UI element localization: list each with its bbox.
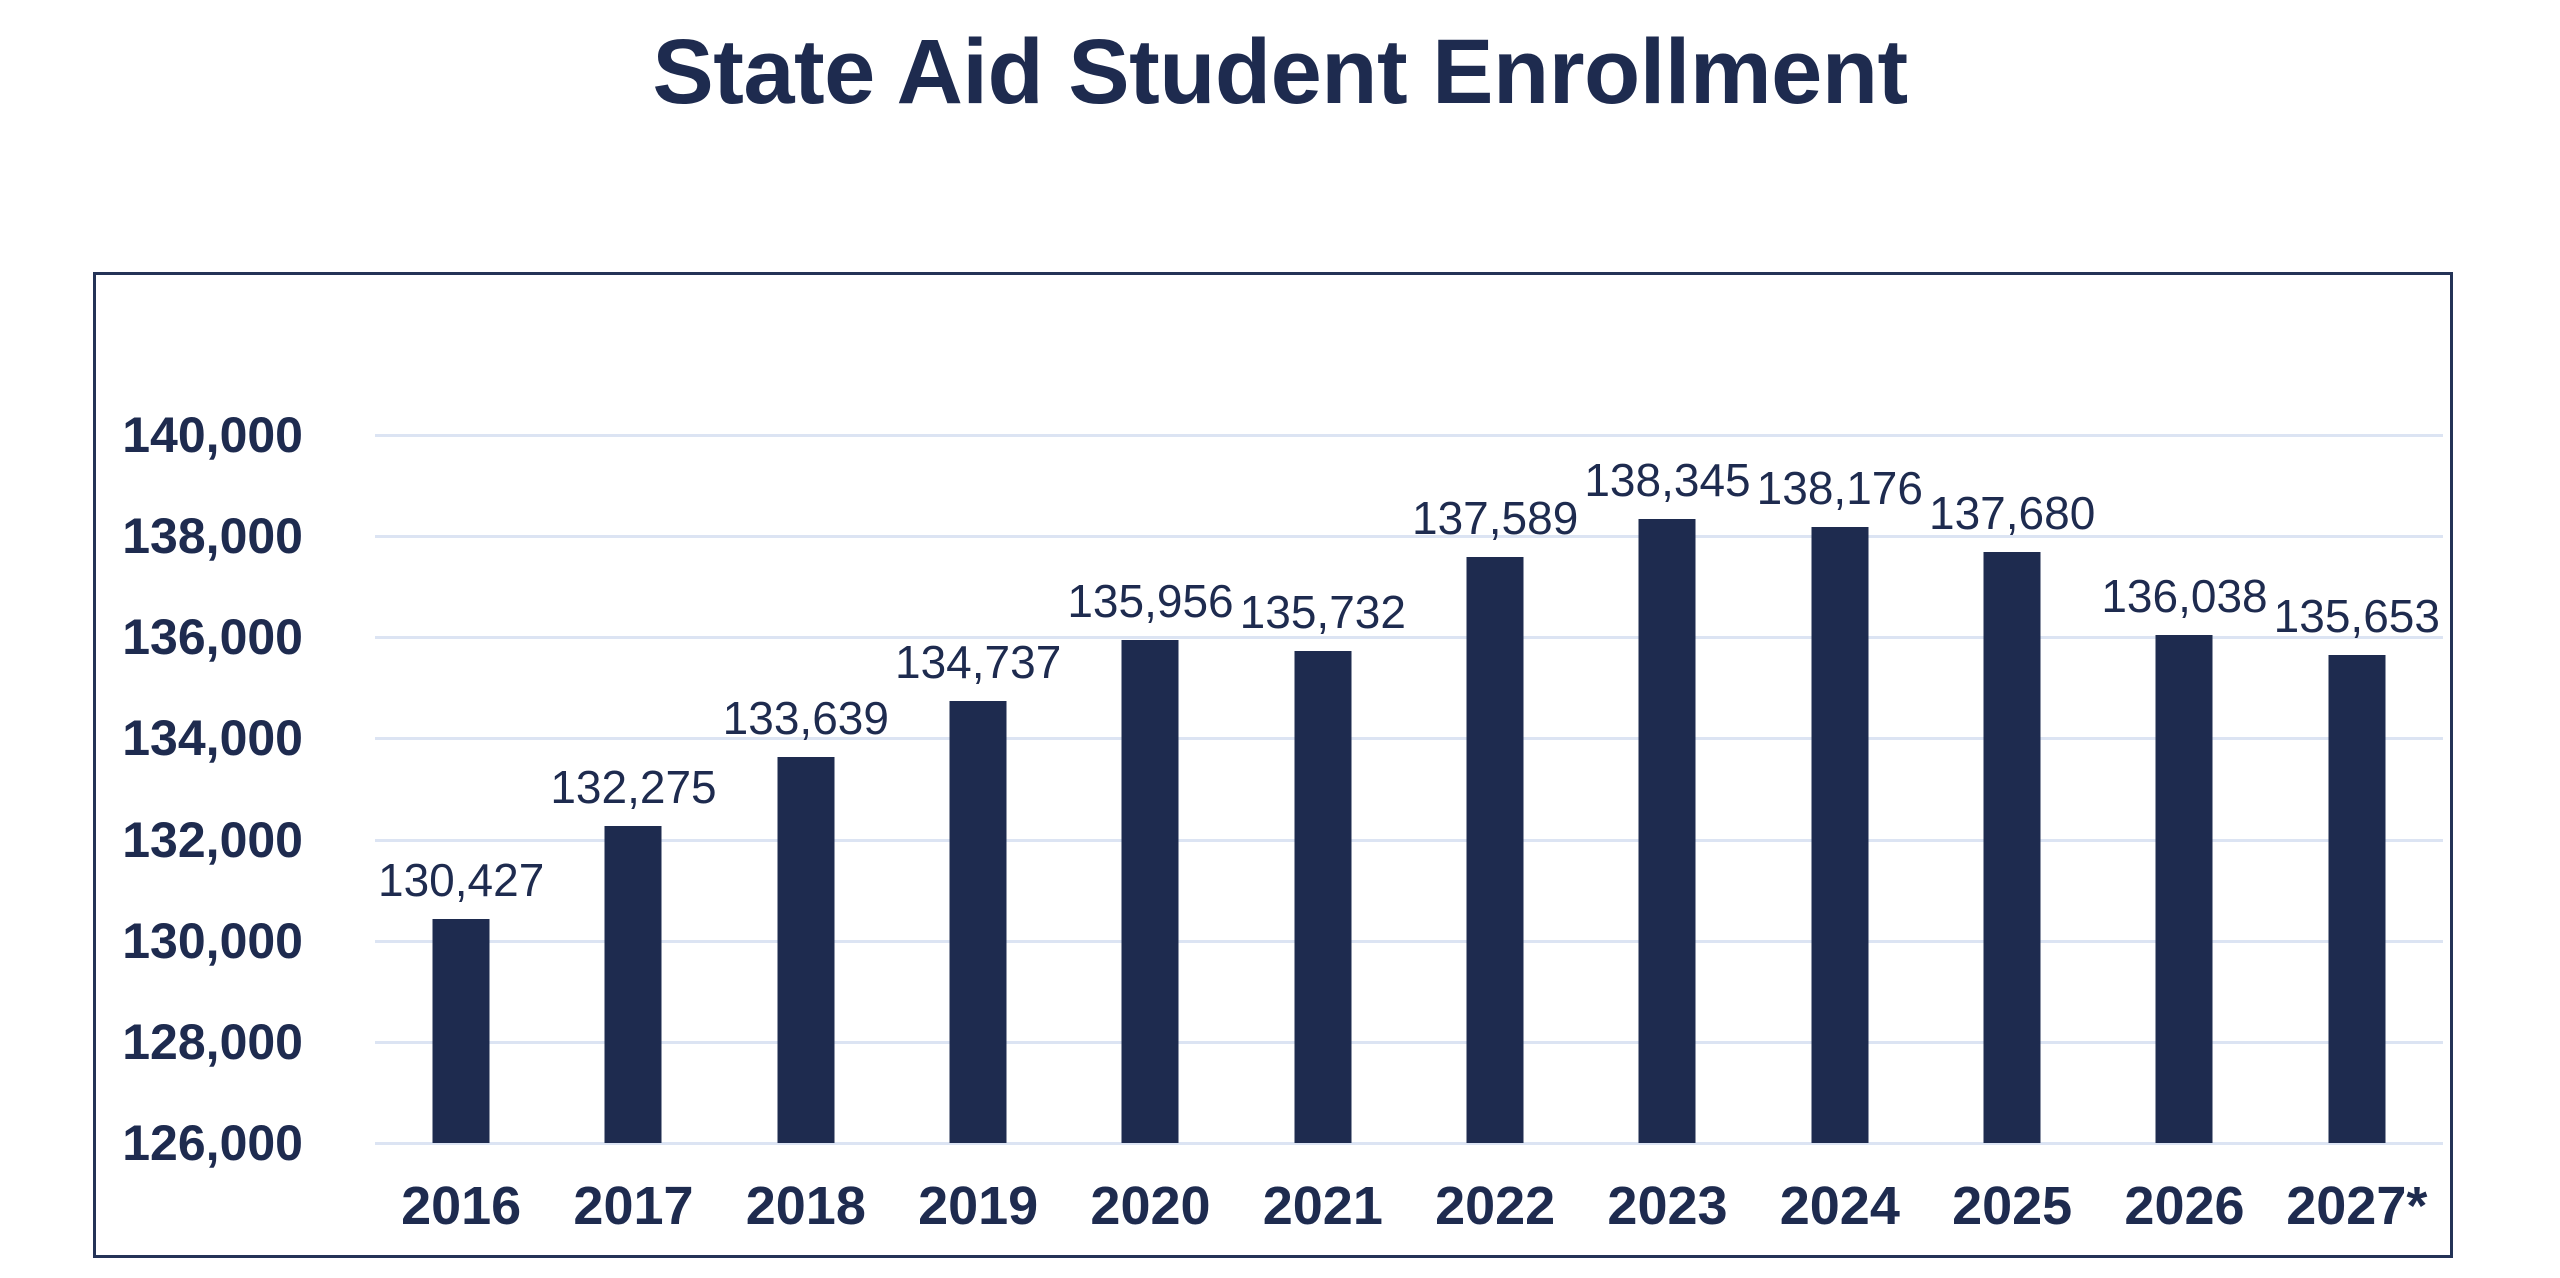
bar-value-label: 135,956 xyxy=(1067,574,1233,628)
bar-value-label: 135,653 xyxy=(2274,589,2440,643)
bar-group: 137,5892022 xyxy=(1409,275,1581,1261)
bar-value-label: 138,345 xyxy=(1584,453,1750,507)
x-axis-tick-label: 2020 xyxy=(1090,1175,1210,1237)
bar[interactable] xyxy=(1122,640,1179,1143)
bar[interactable] xyxy=(1811,527,1868,1143)
y-axis-tick-label: 134,000 xyxy=(0,709,303,767)
bar[interactable] xyxy=(605,826,662,1143)
bar[interactable] xyxy=(1984,552,2041,1143)
bar-group: 137,6802025 xyxy=(1926,275,2098,1261)
bar-group: 135,9562020 xyxy=(1064,275,1236,1261)
y-axis-tick-label: 126,000 xyxy=(0,1114,303,1172)
x-axis-tick-label: 2016 xyxy=(401,1175,521,1237)
bar[interactable] xyxy=(777,757,834,1143)
y-axis-tick-label: 136,000 xyxy=(0,608,303,666)
chart-canvas: 126,000128,000130,000132,000134,000136,0… xyxy=(96,275,2450,1255)
bar-series: 130,4272016132,2752017133,6392018134,737… xyxy=(375,275,2443,1261)
bar-group: 133,6392018 xyxy=(720,275,892,1261)
bar[interactable] xyxy=(433,919,490,1143)
x-axis-tick-label: 2018 xyxy=(746,1175,866,1237)
x-axis-tick-label: 2027* xyxy=(2286,1175,2427,1237)
x-axis-tick-label: 2026 xyxy=(2124,1175,2244,1237)
bar-value-label: 135,732 xyxy=(1240,585,1406,639)
bar[interactable] xyxy=(1294,651,1351,1143)
y-axis-tick-label: 132,000 xyxy=(0,811,303,869)
x-axis-tick-label: 2022 xyxy=(1435,1175,1555,1237)
bar-value-label: 130,427 xyxy=(378,853,544,907)
bar[interactable] xyxy=(2156,635,2213,1143)
bar-value-label: 132,275 xyxy=(550,760,716,814)
bar-value-label: 138,176 xyxy=(1757,461,1923,515)
bar[interactable] xyxy=(1639,519,1696,1143)
bar-group: 138,3452023 xyxy=(1581,275,1753,1261)
y-axis-tick-label: 138,000 xyxy=(0,507,303,565)
bar-group: 135,6532027* xyxy=(2271,275,2443,1261)
x-axis-tick-label: 2019 xyxy=(918,1175,1038,1237)
bar[interactable] xyxy=(950,701,1007,1143)
x-axis-tick-label: 2023 xyxy=(1607,1175,1727,1237)
bar[interactable] xyxy=(2328,655,2385,1143)
y-axis-tick-label: 140,000 xyxy=(0,406,303,464)
bar-value-label: 134,737 xyxy=(895,635,1061,689)
bar-value-label: 133,639 xyxy=(723,691,889,745)
x-axis-tick-label: 2021 xyxy=(1263,1175,1383,1237)
x-axis-tick-label: 2025 xyxy=(1952,1175,2072,1237)
bar-group: 134,7372019 xyxy=(892,275,1064,1261)
bar-group: 135,7322021 xyxy=(1237,275,1409,1261)
y-axis-tick-label: 128,000 xyxy=(0,1013,303,1071)
bar-group: 136,0382026 xyxy=(2098,275,2270,1261)
bar-value-label: 137,680 xyxy=(1929,486,2095,540)
bar-group: 138,1762024 xyxy=(1754,275,1926,1261)
plot-area: 130,4272016132,2752017133,6392018134,737… xyxy=(375,275,2443,1261)
x-axis-tick-label: 2024 xyxy=(1780,1175,1900,1237)
bar-group: 132,2752017 xyxy=(547,275,719,1261)
y-axis-tick-label: 130,000 xyxy=(0,912,303,970)
page-title: State Aid Student Enrollment xyxy=(0,24,2560,121)
x-axis-tick-label: 2017 xyxy=(573,1175,693,1237)
bar-value-label: 137,589 xyxy=(1412,491,1578,545)
bar-value-label: 136,038 xyxy=(2101,569,2267,623)
bar-group: 130,4272016 xyxy=(375,275,547,1261)
chart-frame: 126,000128,000130,000132,000134,000136,0… xyxy=(93,272,2453,1258)
bar[interactable] xyxy=(1467,557,1524,1143)
